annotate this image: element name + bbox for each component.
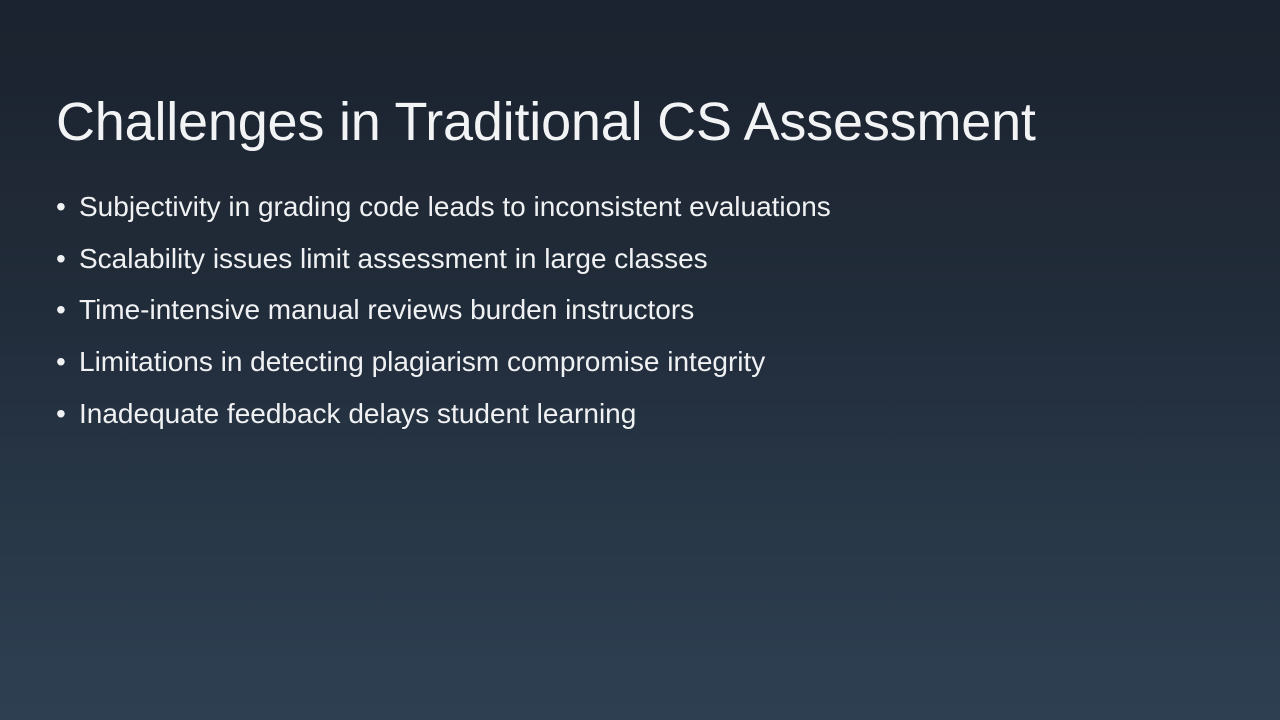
list-item: • Scalability issues limit assessment in… <box>56 238 1226 290</box>
list-item-text: Limitations in detecting plagiarism comp… <box>79 341 765 382</box>
list-item-text: Subjectivity in grading code leads to in… <box>79 186 831 227</box>
list-item: • Inadequate feedback delays student lea… <box>56 393 1226 445</box>
bullet-point-icon: • <box>56 238 79 279</box>
list-item: • Time-intensive manual reviews burden i… <box>56 289 1226 341</box>
bullet-point-icon: • <box>56 289 79 330</box>
bullet-point-icon: • <box>56 393 79 434</box>
bullet-point-icon: • <box>56 341 79 382</box>
slide-title: Challenges in Traditional CS Assessment <box>56 88 1226 156</box>
bullet-list: • Subjectivity in grading code leads to … <box>56 186 1226 444</box>
list-item-text: Scalability issues limit assessment in l… <box>79 238 708 279</box>
list-item: • Limitations in detecting plagiarism co… <box>56 341 1226 393</box>
list-item-text: Time-intensive manual reviews burden ins… <box>79 289 694 330</box>
list-item: • Subjectivity in grading code leads to … <box>56 186 1226 238</box>
presentation-slide: Challenges in Traditional CS Assessment … <box>0 0 1280 720</box>
bullet-point-icon: • <box>56 186 79 227</box>
list-item-text: Inadequate feedback delays student learn… <box>79 393 636 434</box>
